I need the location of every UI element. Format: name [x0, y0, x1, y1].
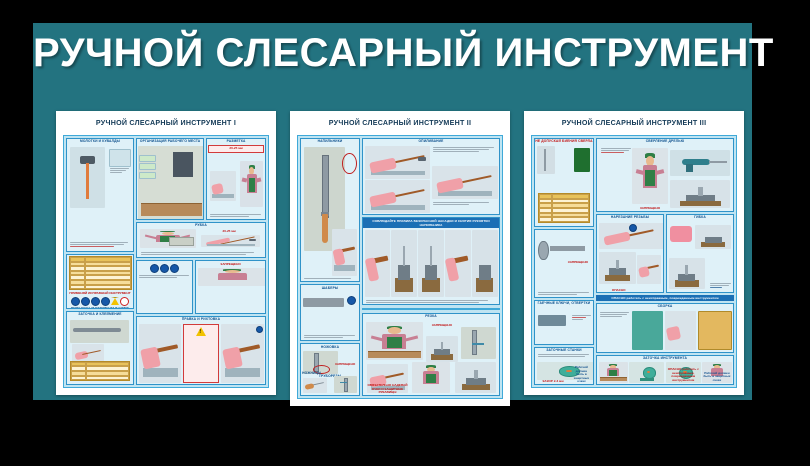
die-figure: [538, 241, 548, 260]
panel-bending[interactable]: ГИБКА: [666, 214, 734, 293]
panel-grinding-machines[interactable]: ЗАТОЧНЫЕ СТАНКИ ЗАЗОР 2-3 мм Рабочий дол…: [534, 347, 594, 385]
threading-hand-2-figure: [637, 255, 661, 284]
chopping-distance-note: 20-25 мм: [198, 230, 259, 234]
gloves-icon: [91, 297, 100, 306]
assembly-hand-figure: [665, 311, 697, 350]
taps-warning: ЗАПРЕЩЕНО: [565, 261, 591, 265]
step-3-icon: [170, 264, 179, 273]
drilling-worker-figure: [632, 148, 667, 204]
page-title: РУЧНОЙ СЛЕСАРНЫЙ ИНСТРУМЕНТ: [33, 31, 752, 76]
hacksaw-note: ЗАПРЕЩЕНО: [333, 363, 357, 367]
handle-step-2: [391, 230, 416, 297]
note-tool-bag: ПЕРЕНОСКА ИНСТРУМЕНТА В СУМКЕ: [67, 307, 133, 309]
drill-ok-figure: [574, 148, 589, 172]
drill-norms-table: [538, 193, 590, 223]
handle-step-3: [418, 230, 443, 297]
chopping-step-icons: [137, 261, 192, 275]
sharpening-goggles-note: Рабочий должен быть в защитных очках: [702, 372, 731, 383]
file-hand-figure: [332, 229, 358, 276]
cutting-machine-figure: [455, 362, 496, 392]
cutting-vise-figure: [426, 336, 459, 362]
panel-chopping-safety[interactable]: ЗАПРЕЩЕНО: [195, 260, 266, 314]
grinding-gap-note: ЗАЗОР 2-3 мм: [537, 380, 569, 384]
threading-note: ОПАСНО: [599, 289, 639, 293]
poster-3-body: НЕ ДОПУСКАЙ БИЕНИЯ СВЕРЛА: [531, 135, 737, 388]
cutting-pipe-figure: [461, 327, 496, 359]
threading-detail-icon: [629, 224, 637, 232]
handle-step-4: [445, 230, 470, 297]
drilling-vise-figure: [670, 180, 730, 208]
straightening-hand-1: [139, 324, 182, 383]
handle-step-1: [365, 230, 390, 297]
goggles-required-icon: [256, 326, 263, 333]
chisel-figure: [70, 320, 129, 343]
assembly-tools-panel: [698, 311, 732, 350]
panel-marking[interactable]: РАЗМЕТКА 20-25 мм: [206, 138, 266, 220]
chopping-prohibited-note: ЗАПРЕЩЕНО: [196, 261, 265, 267]
drilling-prohibited-note: ЗАПРЕЩЕНО: [632, 207, 667, 211]
poster-2-body: НАПИЛЬНИКИ ШАБЕ: [297, 135, 503, 399]
goggles-icon: [71, 297, 80, 306]
open-end-wrench-figure: [538, 315, 566, 326]
step-1-icon: [150, 264, 159, 273]
sharpening-danger-figure: ОПАСНО работать с неисправным, поврежден…: [666, 362, 701, 382]
poster-1-header: РУЧНОЙ СЛЕСАРНЫЙ ИНСТРУМЕНТ I: [56, 111, 276, 133]
poster-2-header: РУЧНОЙ СЛЕСАРНЫЙ ИНСТРУМЕНТ II: [290, 111, 510, 133]
panel-taps-dies[interactable]: ЗАПРЕЩЕНО: [534, 229, 594, 298]
chopping-hand-figure: [201, 235, 260, 246]
bending-gloves-figure: [670, 226, 692, 242]
cutting-worker-figure: [366, 322, 423, 360]
cutting-ppe-note: ОБЯЗАТЕЛЬНО НАДЕВАЙ ОЧКИ И ЗАЩИТНЫЕ РУКА…: [367, 384, 408, 395]
handle-safety-banner: СОБЛЮДАЙТЕ ПРАВИЛА БЕЗОПАСНОЙ НАСАДКИ И …: [363, 218, 499, 228]
threading-vise-figure: [599, 252, 636, 284]
screenshot-root: РУЧНОЙ СЛЕСАРНЫЙ ИНСТРУМЕНТ РУЧНОЙ СЛЕСА…: [0, 0, 810, 466]
panel-chopping[interactable]: РУБКА 20-25 мм: [136, 222, 266, 258]
filing-hand-1: [365, 146, 431, 179]
threading-hands-figure: [599, 223, 664, 249]
straightening-warning: [183, 324, 220, 383]
section-divider: [362, 308, 500, 310]
panel-shears-title: НОЖНИЦЫ: [302, 371, 321, 376]
handle-step-5: [472, 230, 497, 297]
panel-drilling[interactable]: СВЕРЛЕНИЕ ДРЕЛЬЮ: [596, 138, 734, 212]
helmet-icon: [81, 297, 90, 306]
straightening-hand-2: [221, 324, 264, 383]
panel-assembly[interactable]: СБОРКА: [596, 303, 734, 352]
tap-figure: [550, 246, 585, 251]
assembly-wrench-figure: [632, 311, 664, 350]
cutting-worker-2-figure: [412, 362, 450, 392]
bending-vise-figure: [695, 225, 731, 249]
poster-1-body: МОЛОТКИ И КУВАЛДЫ: [63, 135, 269, 388]
panel-hammer-table[interactable]: ПРИМЕНЯЙ ИСПРАВНЫЙ ИНСТРУМЕНТ ПЕРЕНОСКА …: [66, 254, 134, 309]
panel-scrapers[interactable]: ШАБЕРЫ: [300, 284, 360, 341]
boots-icon: [101, 297, 110, 306]
scraper-blade: [303, 298, 344, 307]
marking-worker-figure: [240, 161, 263, 207]
exclamation-triangle-icon: [196, 327, 206, 336]
drilling-safety-banner: ОПАСНО работать с неисправным, поврежден…: [596, 295, 734, 301]
sharpening-danger-note: ОПАСНО работать с неисправным, поврежден…: [666, 368, 701, 382]
poster-3-header: РУЧНОЙ СЛЕСАРНЫЙ ИНСТРУМЕНТ III: [524, 111, 744, 133]
hammer-mass-table: [69, 256, 132, 290]
detail-circle-callout: [342, 153, 357, 174]
panel-chisel-sharpening[interactable]: ЗАТОЧКА И КЛЕЙМЕНИЕ: [66, 311, 134, 385]
marking-warning: 20-25 мм: [208, 145, 264, 153]
step-2-icon: [160, 264, 169, 273]
drill-tool-figure: [670, 150, 730, 177]
scraper-detail-icon: [347, 296, 356, 305]
drill-chuck-figure: [537, 146, 554, 174]
poster-board: РУЧНОЙ СЛЕСАРНЫЙ ИНСТРУМЕНТ РУЧНОЙ СЛЕСА…: [33, 23, 752, 400]
chopping-safety-figure: [198, 268, 266, 286]
panel-handle-safety[interactable]: СОБЛЮДАЙТЕ ПРАВИЛА БЕЗОПАСНОЙ НАСАДКИ И …: [362, 217, 500, 305]
warning-triangle-icon: [111, 297, 119, 305]
pipe-cutter-figure: [334, 376, 357, 393]
panel-filing[interactable]: ОПИЛИВАНИЕ: [362, 138, 500, 215]
chisel-angles-table: [70, 361, 129, 381]
filing-hand-3: [432, 166, 498, 199]
bending-fixture-figure: [669, 258, 705, 290]
chopping-worker-figure: [140, 229, 196, 248]
panel-files[interactable]: НАПИЛЬНИКИ: [300, 138, 360, 282]
poster-2[interactable]: РУЧНОЙ СЛЕСАРНЫЙ ИНСТРУМЕНТ II НАПИЛЬНИК…: [290, 111, 510, 406]
prohibition-icon: [120, 297, 129, 306]
panel-threading[interactable]: НАРЕЗАНИЕ РЕЗЬБЫ: [596, 214, 664, 293]
panel-drill-runout[interactable]: НЕ ДОПУСКАЙ БИЕНИЯ СВЕРЛА: [534, 138, 594, 227]
panel-hammers[interactable]: МОЛОТКИ И КУВАЛДЫ: [66, 138, 134, 252]
grinding-guard-note: Рабочий должен быть в защитных очках: [572, 366, 592, 384]
panel-workplace-organization[interactable]: ОРГАНИЗАЦИЯ РАБОЧЕГО МЕСТА: [136, 138, 204, 220]
shears-figure: [303, 378, 326, 393]
poster-1[interactable]: РУЧНОЙ СЛЕСАРНЫЙ ИНСТРУМЕНТ I МОЛОТКИ И …: [56, 111, 276, 395]
panel-cutting[interactable]: РЕЗКА ЗАПРЕЩЕНО: [362, 313, 500, 396]
sharpening-goggles-figure: Рабочий должен быть в защитных очках: [702, 362, 731, 382]
panel-tool-sharpening[interactable]: ЗАТОЧКА ИНСТРУМЕНТА ОПАСНО работать с не…: [596, 355, 734, 385]
poster-3[interactable]: РУЧНОЙ СЛЕСАРНЫЙ ИНСТРУМЕНТ III НЕ ДОПУС…: [524, 111, 744, 395]
sharpening-worker-figure: [599, 362, 628, 382]
panel-chopping-steps[interactable]: [136, 260, 193, 314]
hammer-diagram-figure: [70, 147, 106, 209]
filing-hand-2: [365, 180, 431, 213]
marking-distance-note: 20-25 мм: [210, 147, 262, 151]
cutting-note: ЗАПРЕЩЕНО: [426, 324, 459, 328]
marking-hand-figure: [210, 171, 237, 201]
panel-hacksaw[interactable]: НОЖОВКА ЗАПРЕЩЕНО ТРУБОРЕЗЫ НОЖНИЦЫ: [300, 343, 360, 396]
panel-wrenches-screwdrivers[interactable]: ГАЕЧНЫЕ КЛЮЧИ, ОТВЕРТКИ: [534, 300, 594, 344]
sharpening-machine-figure: [629, 362, 664, 382]
panel-straightening[interactable]: ПРАВКА И РИХТОВКА: [136, 316, 266, 385]
